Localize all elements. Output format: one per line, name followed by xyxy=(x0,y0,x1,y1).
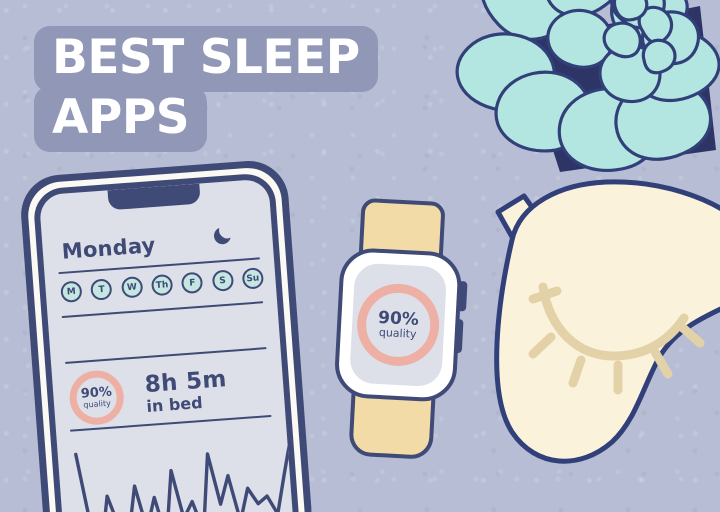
day-header-row: Monday xyxy=(61,225,259,263)
divider-2 xyxy=(62,301,264,318)
week-day-strip[interactable]: M T W Th F S Su xyxy=(60,267,264,303)
smartwatch: 90% quality xyxy=(323,195,476,462)
page-title: BEST SLEEP APPS xyxy=(34,26,378,152)
illustration-canvas: BEST SLEEP APPS Monday M T W xyxy=(0,0,720,512)
day-dot-m[interactable]: M xyxy=(60,280,82,302)
phone-screen[interactable]: Monday M T W Th F S Su xyxy=(39,179,296,512)
in-bed-duration: 8h 5m xyxy=(144,367,227,397)
day-dot-su[interactable]: Su xyxy=(242,267,264,289)
current-day-label: Monday xyxy=(61,233,156,264)
watch-case: 90% quality xyxy=(333,247,463,403)
quality-ring: 90% quality xyxy=(68,369,126,427)
quality-caption: quality xyxy=(83,398,111,410)
watch-quality-caption: quality xyxy=(379,327,417,341)
in-bed-block: 8h 5m in bed xyxy=(144,367,229,416)
crescent-moon-icon xyxy=(211,223,235,247)
day-dot-f[interactable]: F xyxy=(181,272,203,294)
day-dot-th[interactable]: Th xyxy=(151,274,173,296)
title-line-2: APPS xyxy=(34,86,207,152)
watch-quality-ring: 90% quality xyxy=(355,282,441,368)
day-dot-s[interactable]: S xyxy=(211,269,233,291)
sleep-graph xyxy=(67,423,295,512)
title-line-1: BEST SLEEP xyxy=(34,26,378,92)
day-dot-t[interactable]: T xyxy=(90,278,112,300)
smartphone: Monday M T W Th F S Su xyxy=(18,158,314,512)
day-dot-w[interactable]: W xyxy=(121,276,143,298)
sleep-app-screen: Monday M T W Th F S Su xyxy=(39,179,296,512)
watch-screen[interactable]: 90% quality xyxy=(349,263,447,388)
